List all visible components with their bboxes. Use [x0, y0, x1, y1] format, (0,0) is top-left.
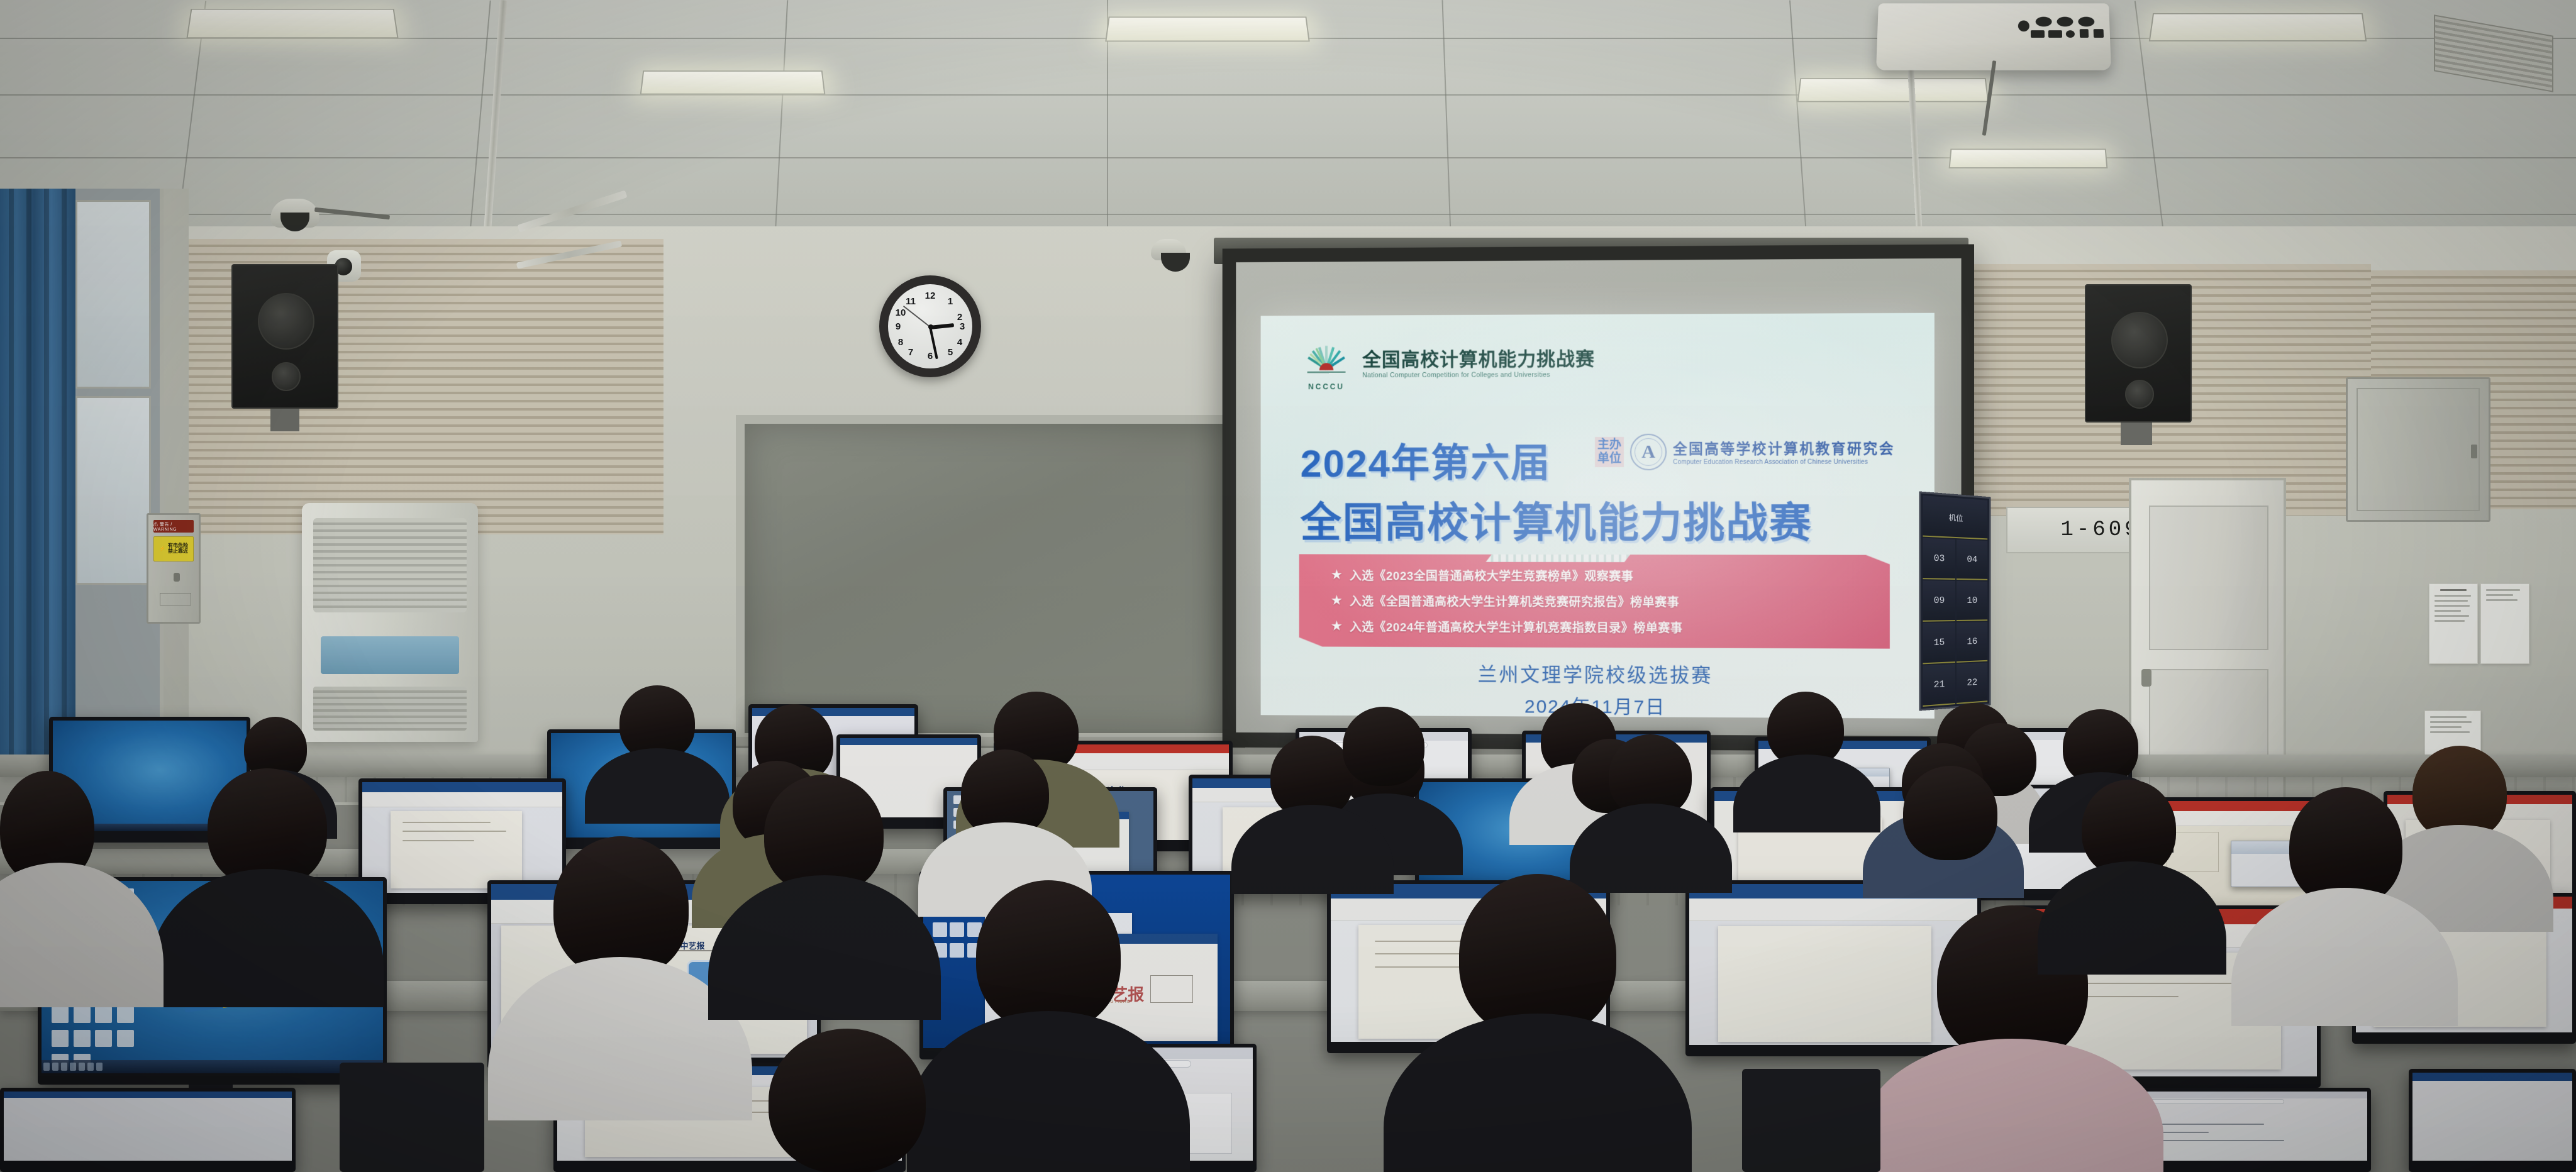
host-name-en: Computer Education Research Association … — [1673, 459, 1895, 466]
desktop-icon[interactable] — [52, 1007, 69, 1024]
station-number-board: 机位 03 04 09 10 15 16 21 22 — [1919, 491, 1990, 710]
warning-label-yellow: ⚡ 有电危险 禁止靠近 — [153, 536, 194, 561]
badge-item: ★ 入选《2024年普通高校大学生计算机竞赛指数目录》榜单赛事 — [1331, 618, 1683, 636]
clock-numeral: 7 — [904, 347, 917, 358]
monitor-bottom-left[interactable] — [0, 1088, 296, 1172]
host-tag-line1: 主办 — [1597, 438, 1621, 452]
desktop-icon[interactable] — [950, 943, 964, 958]
clock-numeral: 1 — [944, 296, 957, 307]
windows-taskbar[interactable] — [42, 1060, 383, 1073]
monitor-front-right-2[interactable] — [1685, 880, 1981, 1056]
slide-org-name-en: National Computer Competition for Colleg… — [1362, 371, 1595, 379]
host-tag: 主办 单位 — [1595, 437, 1624, 467]
numboard-cell: 10 — [1957, 581, 1987, 621]
dome-security-camera — [270, 199, 319, 228]
chair-back — [340, 1063, 484, 1172]
desktop-icon[interactable] — [74, 1007, 91, 1024]
desktop-icon[interactable] — [95, 1007, 112, 1024]
dome-security-camera — [1151, 239, 1186, 260]
desktop-icon[interactable] — [933, 922, 947, 937]
desktop-icon[interactable] — [950, 922, 964, 937]
wall-clock: 12 1 2 3 4 5 6 7 8 9 10 11 — [879, 275, 981, 377]
ceiling-light-panel — [640, 70, 826, 94]
badge-text: 入选《全国普通高校大学生计算机类竞赛研究报告》榜单赛事 — [1350, 592, 1679, 610]
wall-notice — [2480, 583, 2529, 664]
clock-numeral: 5 — [944, 347, 957, 358]
presentation-slide: NCCCU 全国高校计算机能力挑战赛 National Computer Com… — [1261, 313, 1935, 719]
numboard-header: 机位 — [1923, 495, 1987, 539]
slide-title-line1: 2024年第六届 — [1301, 431, 1551, 488]
electrical-cabinet: ⚠ 警告 / WARNING ⚡ 有电危险 禁止靠近 — [147, 513, 201, 624]
clock-numeral: 4 — [953, 337, 966, 348]
ceiling-light-panel — [2149, 13, 2367, 41]
ncccu-fan-logo: NCCCU — [1299, 341, 1354, 388]
ac-display-panel[interactable] — [321, 636, 459, 674]
desktop-icon[interactable] — [52, 1030, 69, 1047]
wall-cabinet-right — [2346, 377, 2490, 522]
numboard-cell: 03 — [1923, 538, 1955, 580]
clock-second-hand — [903, 306, 931, 328]
student-head — [1459, 874, 1616, 1037]
numboard-cell: 15 — [1923, 622, 1955, 664]
cera-emblem-icon: A — [1630, 434, 1667, 470]
slide-footer-event: 兰州文理学院校级选拔赛 — [1261, 658, 1935, 688]
desktop-icon[interactable] — [95, 1030, 112, 1047]
slide-org-logo: NCCCU 全国高校计算机能力挑战赛 National Computer Com… — [1299, 341, 1595, 388]
star-icon: ★ — [1331, 619, 1342, 634]
slide-org-name-cn: 全国高校计算机能力挑战赛 — [1362, 350, 1595, 370]
classroom-photo-scene: 12 1 2 3 4 5 6 7 8 9 10 11 ⚠ 警告 / WARNIN… — [0, 0, 2576, 1172]
badge-item: ★ 入选《全国普通高校大学生计算机类竞赛研究报告》榜单赛事 — [1331, 592, 1683, 610]
clock-numeral: 9 — [892, 321, 904, 332]
monitor-front-right-6[interactable] — [2409, 1069, 2576, 1172]
clock-numeral: 10 — [894, 307, 907, 318]
student-head — [1903, 766, 1997, 860]
star-icon: ★ — [1331, 594, 1342, 608]
student-head — [976, 880, 1121, 1031]
clock-numeral: 12 — [924, 290, 936, 301]
student-head — [1343, 707, 1424, 786]
host-name-cn: 全国高等学校计算机教育研究会 — [1673, 438, 1895, 458]
chair-back — [1742, 1069, 1880, 1172]
ncccu-abbrev: NCCCU — [1299, 382, 1354, 391]
desktop-icon[interactable] — [74, 1030, 91, 1047]
badge-text: 入选《2023全国普通高校大学生竞赛榜单》观察赛事 — [1350, 567, 1633, 584]
ceiling-light-panel — [1949, 149, 2108, 169]
star-icon: ★ — [1331, 568, 1342, 582]
desktop-icon[interactable] — [117, 1007, 134, 1024]
slide-title-line2: 全国高校计算机能力挑战赛 — [1301, 489, 1813, 550]
badge-item: ★ 入选《2023全国普通高校大学生竞赛榜单》观察赛事 — [1331, 567, 1683, 584]
window-curtain — [0, 189, 75, 755]
projection-screen: NCCCU 全国高校计算机能力挑战赛 National Computer Com… — [1223, 244, 1974, 751]
numboard-cell: 21 — [1923, 664, 1955, 707]
air-conditioner — [302, 503, 478, 742]
clock-hour-hand — [930, 323, 954, 329]
cera-emblem-letter: A — [1641, 441, 1655, 463]
host-tag-line2: 单位 — [1597, 452, 1621, 466]
chalkboard — [736, 415, 1239, 742]
numboard-cell: 09 — [1923, 580, 1955, 622]
clock-numeral: 8 — [894, 337, 907, 348]
clock-numeral: 3 — [956, 321, 969, 332]
wall-speaker-right — [2085, 284, 2192, 423]
clock-numeral: 11 — [904, 296, 917, 307]
door-knob[interactable] — [2141, 669, 2151, 687]
warning-bolt-icon: ⚡ — [159, 546, 165, 552]
slide-host-organization: 主办 单位 A 全国高等学校计算机教育研究会 Computer Educatio… — [1595, 433, 1895, 470]
badge-decoration — [1486, 555, 1630, 562]
badge-text: 入选《2024年普通高校大学生计算机竞赛指数目录》榜单赛事 — [1350, 618, 1682, 636]
numboard-cell: 16 — [1957, 622, 1987, 663]
warning-text-line2: 禁止靠近 — [168, 549, 188, 555]
student-head — [769, 1029, 926, 1172]
numboard-cell: 22 — [1957, 663, 1987, 704]
warning-label-red: ⚠ 警告 / WARNING — [153, 520, 194, 533]
desktop-icon[interactable] — [117, 1030, 134, 1047]
wall-speaker-left — [231, 264, 338, 409]
ceiling-light-panel — [1797, 78, 1989, 102]
ceiling-air-vent — [2434, 14, 2553, 92]
ceiling-light-panel — [1105, 16, 1309, 41]
wall-notice — [2429, 583, 2478, 664]
ceiling-light-panel — [186, 9, 398, 38]
numboard-cell: 04 — [1957, 539, 1987, 580]
